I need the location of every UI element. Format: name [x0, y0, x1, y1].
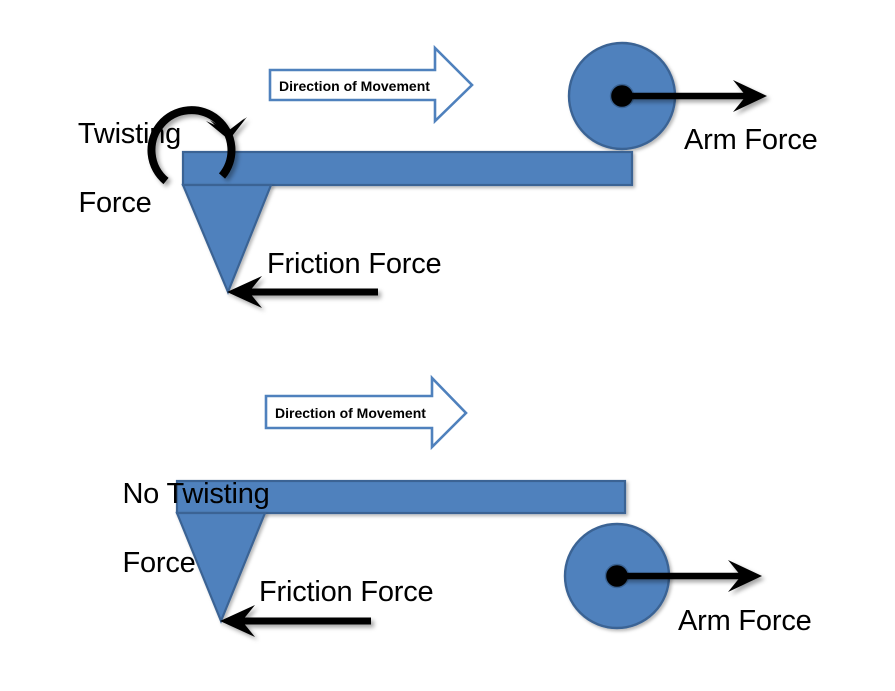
direction-of-movement-label-top: Direction of Movement [279, 78, 430, 95]
arm-force-label-bottom: Arm Force [678, 604, 812, 638]
arm-force-label-top: Arm Force [684, 123, 818, 157]
twisting-force-label-top-line2: Force [78, 187, 151, 219]
diagram-canvas: Twisting Force Direction of Movement Fri… [0, 0, 895, 691]
twisting-force-label-top-line1: Twisting [78, 118, 181, 150]
no-twisting-force-label-bottom: No Twisting Force [91, 443, 270, 614]
no-twisting-force-label-bottom-line2: Force [122, 547, 195, 579]
no-twisting-force-label-bottom-line1: No Twisting [122, 478, 269, 510]
friction-force-label-top: Friction Force [267, 247, 441, 281]
twisting-force-label-top: Twisting Force [47, 83, 181, 254]
direction-of-movement-label-bottom: Direction of Movement [275, 405, 426, 422]
friction-force-label-bottom: Friction Force [259, 575, 433, 609]
friction-wedge-triangle-top [183, 185, 271, 292]
horizontal-bar-top [183, 152, 632, 185]
